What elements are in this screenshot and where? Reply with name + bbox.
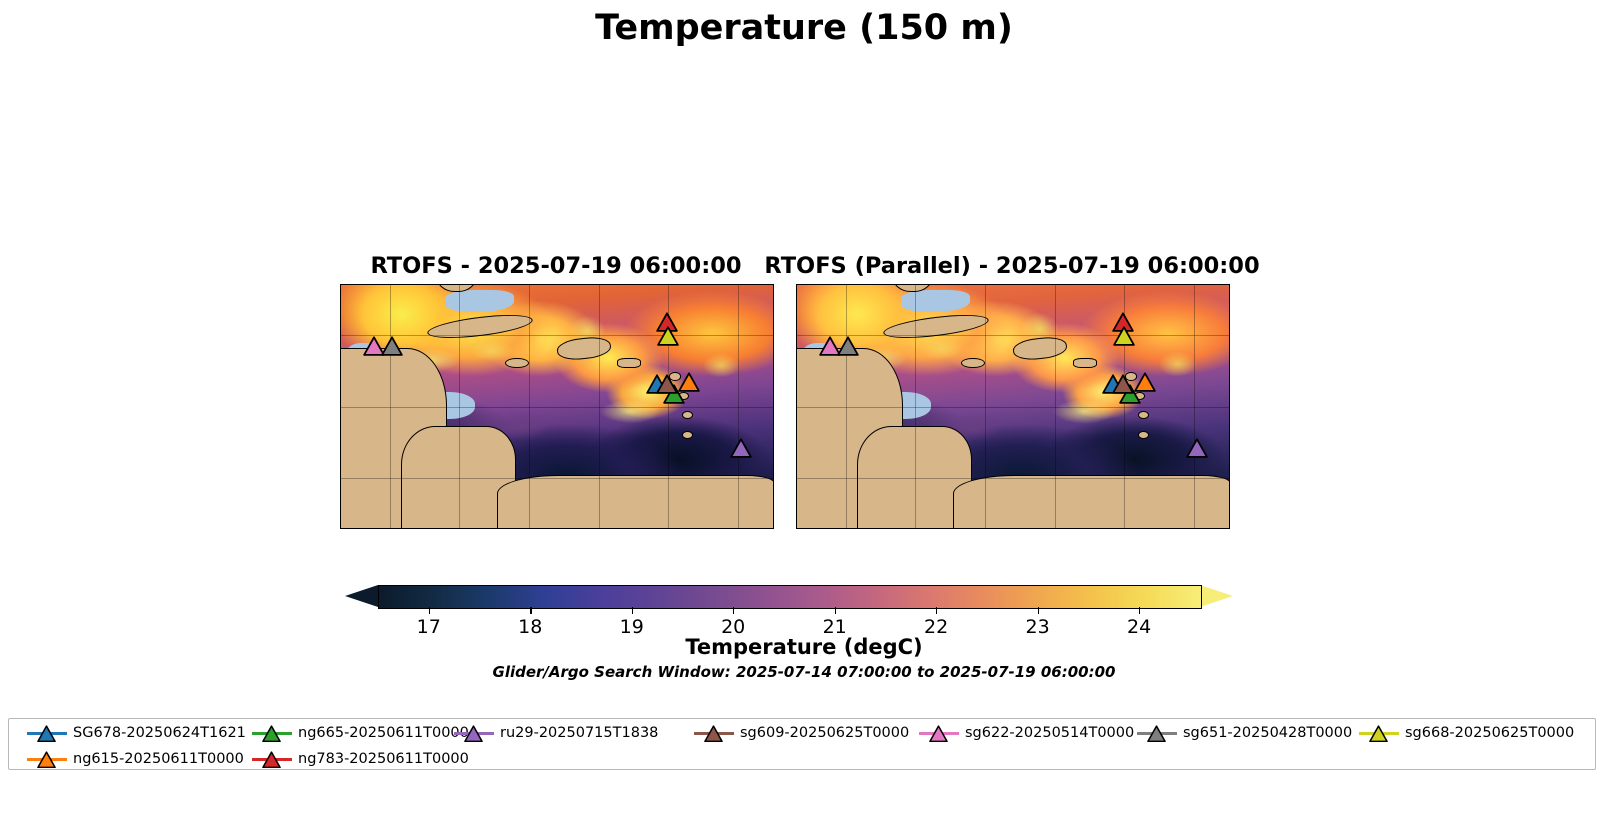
colorbar[interactable]: [378, 585, 1202, 609]
gridline-lat-20: [797, 335, 1229, 336]
map-panel-rtofs-parallel[interactable]: 85°W80°W75°W70°W65°W60°W20°N15°N10°N: [796, 284, 1230, 529]
legend-label: sg622-20250514T0000: [965, 725, 1134, 741]
ytick-0: [340, 335, 341, 336]
ytick-0: [1229, 335, 1230, 336]
legend-marker-swatch: [252, 747, 292, 771]
land-lesser-antilles-d: [682, 431, 693, 439]
xtick-5: [738, 528, 739, 529]
land-jamaica: [505, 358, 529, 368]
colorbar-tick-label: 18: [518, 616, 542, 638]
colorbar-tick-label: 21: [823, 616, 847, 638]
triangle-icon: [464, 725, 483, 746]
ytick-2: [1229, 478, 1230, 479]
colorbar-tick: [632, 607, 633, 614]
legend-label: ru29-20250715T1838: [500, 725, 658, 741]
legend-marker-swatch: [1137, 721, 1177, 745]
legend-row: SG678-20250624T1621ng665-20250611T0000ru…: [9, 720, 1595, 746]
legend-entry[interactable]: ng665-20250611T0000: [252, 720, 469, 746]
colorbar-tick: [835, 607, 836, 614]
colorbar-tick: [1139, 607, 1140, 614]
colorbar-label: Temperature (degC): [0, 635, 1608, 659]
xtick-2: [529, 528, 530, 529]
legend-marker-swatch: [1359, 721, 1399, 745]
legend-row: ng615-20250611T0000ng783-20250611T0000: [9, 746, 1595, 772]
colorbar-extend-low: [345, 585, 378, 607]
panel-title-left: RTOFS - 2025-07-19 06:00:00: [370, 253, 741, 279]
legend-label: sg651-20250428T0000: [1183, 725, 1352, 741]
legend-marker-swatch: [27, 721, 67, 745]
legend: SG678-20250624T1621ng665-20250611T0000ru…: [8, 718, 1596, 770]
legend-entry[interactable]: ru29-20250715T1838: [454, 720, 658, 746]
xtick-5: [1194, 528, 1195, 529]
colorbar-extend-high: [1200, 585, 1233, 607]
colorbar-tick: [429, 607, 430, 614]
xtick-2: [985, 528, 986, 529]
legend-label: SG678-20250624T1621: [73, 725, 246, 741]
legend-entry[interactable]: sg609-20250625T0000: [694, 720, 909, 746]
search-window-caption: Glider/Argo Search Window: 2025-07-14 07…: [0, 663, 1608, 681]
shelf-bahamas: [445, 290, 514, 312]
legend-marker-swatch: [252, 721, 292, 745]
land-south-america: [497, 475, 774, 529]
triangle-icon: [929, 725, 948, 746]
xtick-3: [599, 528, 600, 529]
legend-entry[interactable]: sg668-20250625T0000: [1359, 720, 1574, 746]
colorbar-gradient: [379, 586, 1201, 608]
legend-entry[interactable]: sg651-20250428T0000: [1137, 720, 1352, 746]
triangle-icon: [704, 725, 723, 746]
legend-label: ng783-20250611T0000: [298, 751, 469, 767]
ytick-1: [1229, 407, 1230, 408]
colorbar-tick-label: 22: [924, 616, 948, 638]
land-puerto-rico: [617, 358, 641, 368]
legend-marker-swatch: [694, 721, 734, 745]
colorbar-tick-label: 19: [620, 616, 644, 638]
colorbar-tick-label: 17: [417, 616, 441, 638]
map-field-left: [341, 285, 773, 528]
legend-label: sg609-20250625T0000: [740, 725, 909, 741]
map-panel-rtofs[interactable]: 85°W80°W75°W70°W65°W60°W20°N15°N10°N: [340, 284, 774, 529]
triangle-icon: [262, 751, 281, 772]
gridline-lat-10: [341, 478, 773, 479]
colorbar-tick: [530, 607, 531, 614]
triangle-icon: [1369, 725, 1388, 746]
legend-label: sg668-20250625T0000: [1405, 725, 1574, 741]
gridline-lat-15: [341, 407, 773, 408]
figure-canvas: Temperature (150 m) RTOFS - 2025-07-19 0…: [0, 0, 1608, 827]
shelf-bahamas: [901, 290, 970, 312]
legend-marker-swatch: [919, 721, 959, 745]
map-field-right: [797, 285, 1229, 528]
xtick-3: [1055, 528, 1056, 529]
triangle-icon: [1147, 725, 1166, 746]
xtick-0: [390, 528, 391, 529]
xtick-4: [668, 528, 669, 529]
colorbar-tick-label: 20: [721, 616, 745, 638]
xtick-1: [915, 528, 916, 529]
legend-marker-swatch: [27, 747, 67, 771]
ytick-1: [340, 407, 341, 408]
gridline-lat-20: [341, 335, 773, 336]
xtick-0: [846, 528, 847, 529]
legend-label: ng665-20250611T0000: [298, 725, 469, 741]
gridline-lat-15: [797, 407, 1229, 408]
panel-title-right: RTOFS (Parallel) - 2025-07-19 06:00:00: [764, 253, 1259, 279]
legend-marker-swatch: [454, 721, 494, 745]
land-lesser-antilles-d: [1138, 431, 1149, 439]
legend-entry[interactable]: sg622-20250514T0000: [919, 720, 1134, 746]
colorbar-tick: [733, 607, 734, 614]
land-puerto-rico: [1073, 358, 1097, 368]
triangle-icon: [37, 751, 56, 772]
xtick-4: [1124, 528, 1125, 529]
land-jamaica: [961, 358, 985, 368]
colorbar-tick: [1038, 607, 1039, 614]
legend-label: ng615-20250611T0000: [73, 751, 244, 767]
page-title: Temperature (150 m): [0, 8, 1608, 48]
gridline-lat-10: [797, 478, 1229, 479]
land-south-america: [953, 475, 1230, 529]
ytick-2: [340, 478, 341, 479]
legend-entry[interactable]: ng783-20250611T0000: [252, 746, 469, 772]
colorbar-tick: [936, 607, 937, 614]
triangle-icon: [37, 725, 56, 746]
legend-entry[interactable]: SG678-20250624T1621: [27, 720, 246, 746]
colorbar-tick-label: 24: [1127, 616, 1151, 638]
legend-entry[interactable]: ng615-20250611T0000: [27, 746, 244, 772]
triangle-icon: [262, 725, 281, 746]
colorbar-tick-label: 23: [1026, 616, 1050, 638]
xtick-1: [459, 528, 460, 529]
